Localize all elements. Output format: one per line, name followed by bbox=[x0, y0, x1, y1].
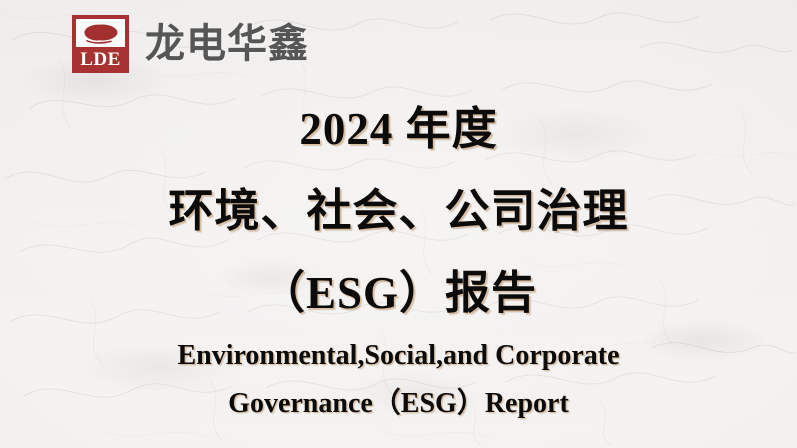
logo-wordmark-lde: LDE bbox=[80, 47, 121, 73]
brand-logo-lockup: LDE 龙电华鑫 bbox=[72, 15, 309, 73]
cover-title-line-topic: 环境、社会、公司治理 bbox=[0, 170, 797, 252]
logo-emblem-plate bbox=[76, 19, 125, 47]
cover-subtitle-line-2: Governance（ESG）Report bbox=[0, 380, 797, 428]
esg-report-cover-page: LDE 龙电华鑫 2024 年度 环境、社会、公司治理 （ESG）报告 Envi… bbox=[0, 0, 797, 448]
company-name-chinese: 龙电华鑫 bbox=[145, 22, 309, 66]
lde-logo-mark: LDE bbox=[72, 15, 129, 73]
cover-title-line-year: 2024 年度 bbox=[0, 88, 797, 170]
cover-subtitle-line-1: Environmental,Social,and Corporate bbox=[0, 332, 797, 380]
cover-title-block: 2024 年度 环境、社会、公司治理 （ESG）报告 bbox=[0, 88, 797, 334]
lde-crescent-ellipse-emblem-icon bbox=[81, 22, 121, 44]
cover-subtitle-block: Environmental,Social,and Corporate Gover… bbox=[0, 332, 797, 428]
cover-title-line-esg-report: （ESG）报告 bbox=[0, 252, 797, 334]
